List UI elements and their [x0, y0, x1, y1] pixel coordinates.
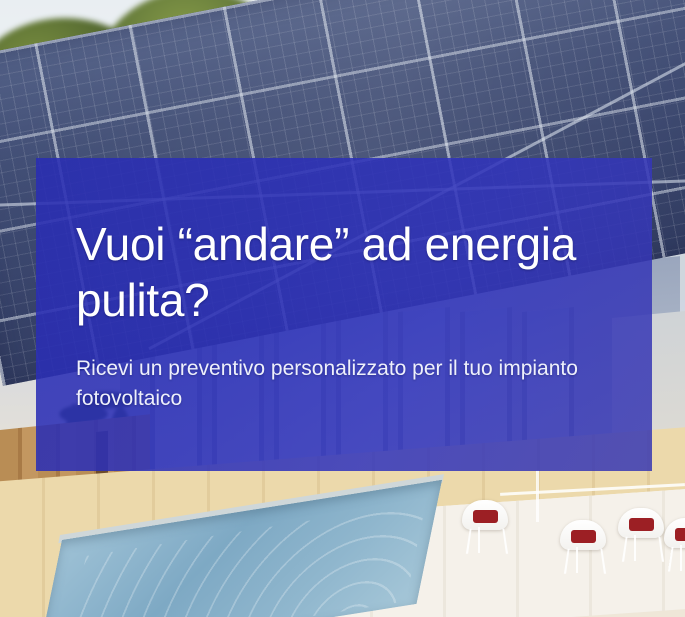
promo-overlay-card: Vuoi “andare” ad energia pulita? Ricevi …	[36, 158, 652, 471]
chair-cushion	[675, 528, 685, 541]
chair-cushion	[473, 510, 498, 523]
chair-legs	[478, 527, 480, 553]
chair-legs	[576, 547, 578, 573]
chair-cushion	[629, 518, 654, 531]
chair-legs	[622, 537, 664, 562]
page-subtitle: Ricevi un preventivo personalizzato per …	[76, 354, 612, 414]
chair-legs	[564, 549, 606, 574]
page-title: Vuoi “andare” ad energia pulita?	[76, 216, 612, 328]
chair-legs	[668, 547, 685, 572]
terrace-railing-post	[536, 470, 539, 522]
chair-cushion	[571, 530, 596, 543]
chair-legs	[466, 529, 508, 554]
chair-legs	[634, 535, 636, 561]
chair-legs	[680, 545, 682, 571]
hero-banner: Vuoi “andare” ad energia pulita? Ricevi …	[0, 0, 685, 617]
